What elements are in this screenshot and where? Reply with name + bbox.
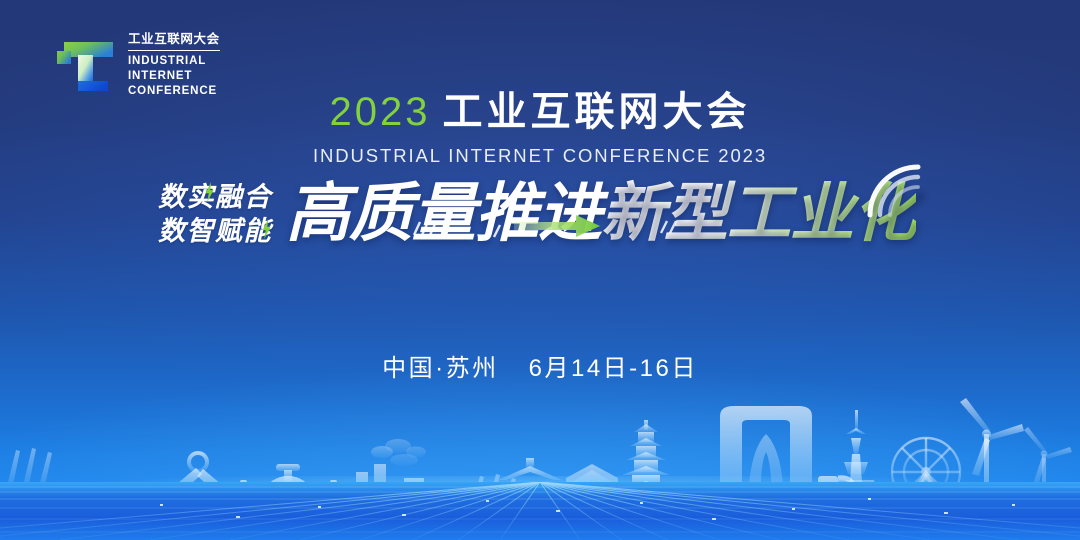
slogan-left-line-1-text: 数实融合 [158, 182, 272, 212]
event-meta: 中国·苏州6月14日-16日 [0, 348, 1080, 383]
logo-en-line-2: INTERNET [128, 69, 220, 84]
logo-text-block: 工业互联网大会 INDUSTRIAL INTERNET CONFERENCE [128, 32, 220, 99]
conference-logo: 工业互联网大会 INDUSTRIAL INTERNET CONFERENCE [55, 32, 220, 99]
event-dates: 6月14日-16日 [529, 355, 698, 382]
ground-grid [0, 482, 1080, 540]
slogan-secondary: 数实融合 数智赋能 [158, 180, 272, 246]
perspective-ground [0, 482, 1080, 540]
slogan-block: 数实融合 数智赋能 高质量推进新型工业化 [0, 180, 1080, 246]
slogan-main-part-1: 高质量推进 [286, 177, 601, 249]
title-year: 2023 [330, 90, 431, 134]
slogan-left-line-1: 数实融合 [158, 183, 272, 212]
title-block: 2023工业互联网大会 INDUSTRIAL INTERNET CONFEREN… [0, 92, 1080, 167]
slogan-primary: 高质量推进新型工业化 [286, 181, 922, 245]
page-title: 2023工业互联网大会 [0, 92, 1080, 132]
logo-en-line-1: INDUSTRIAL [128, 54, 220, 69]
slogan-left-line-2: 数智赋能 [158, 217, 272, 246]
t-monogram-gradient-logo [55, 37, 117, 95]
event-location: 中国·苏州 [382, 355, 499, 382]
slogan-left-line-2-text: 数智赋能 [158, 216, 272, 246]
wifi-signal-arcs-icon [862, 159, 928, 221]
logo-chinese-name: 工业互联网大会 [128, 32, 220, 51]
title-chinese: 工业互联网大会 [442, 90, 750, 134]
conference-poster: 工业互联网大会 INDUSTRIAL INTERNET CONFERENCE 2… [0, 0, 1080, 540]
